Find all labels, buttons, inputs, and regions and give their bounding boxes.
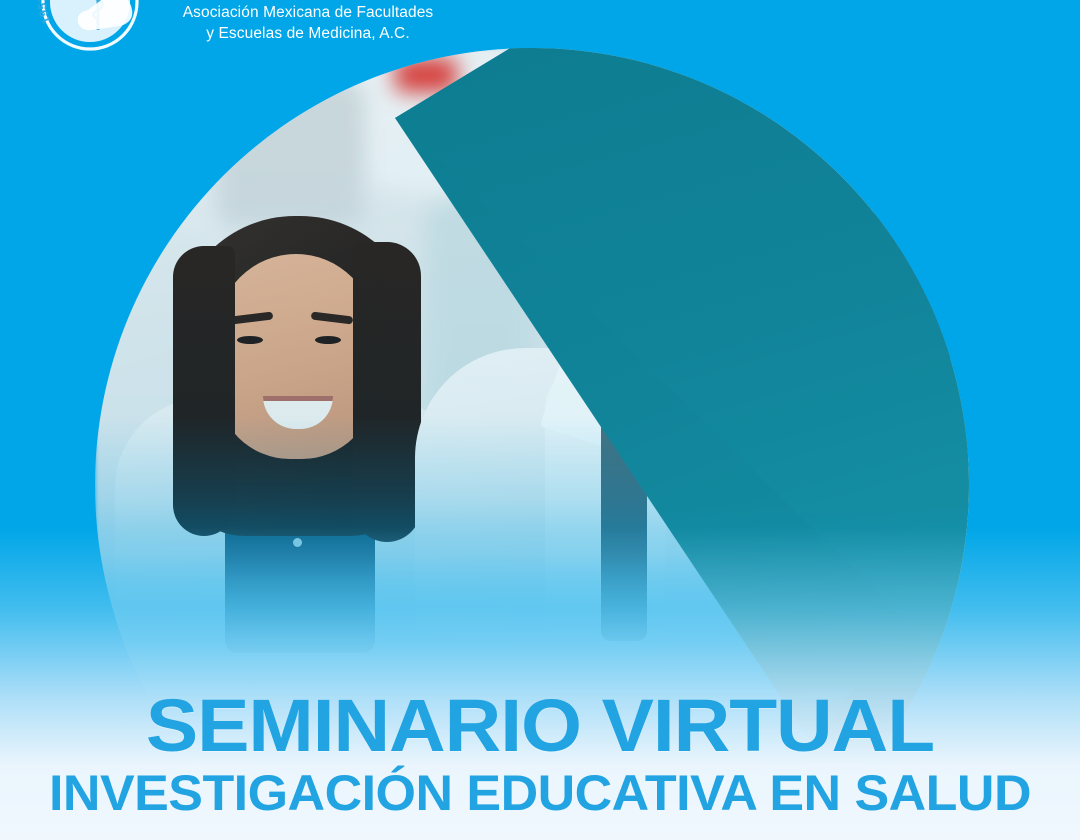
title-block: SEMINARIO VIRTUAL INVESTIGACIÓN EDUCATIV… <box>0 688 1080 820</box>
amfem-circular-emblem-icon: 1957 <box>34 0 146 58</box>
subtitle: INVESTIGACIÓN EDUCATIVA EN SALUD <box>0 766 1080 820</box>
poster-canvas: 1957 Asociación Mexicana de Facultades y… <box>0 0 1080 840</box>
header-bar: 1957 Asociación Mexicana de Facultades y… <box>0 0 1080 52</box>
organization-name: Asociación Mexicana de Facultades y Escu… <box>158 2 458 44</box>
org-line-2: y Escuelas de Medicina, A.C. <box>158 23 458 44</box>
main-title: SEMINARIO VIRTUAL <box>0 688 1080 764</box>
org-line-1: Asociación Mexicana de Facultades <box>158 2 458 23</box>
